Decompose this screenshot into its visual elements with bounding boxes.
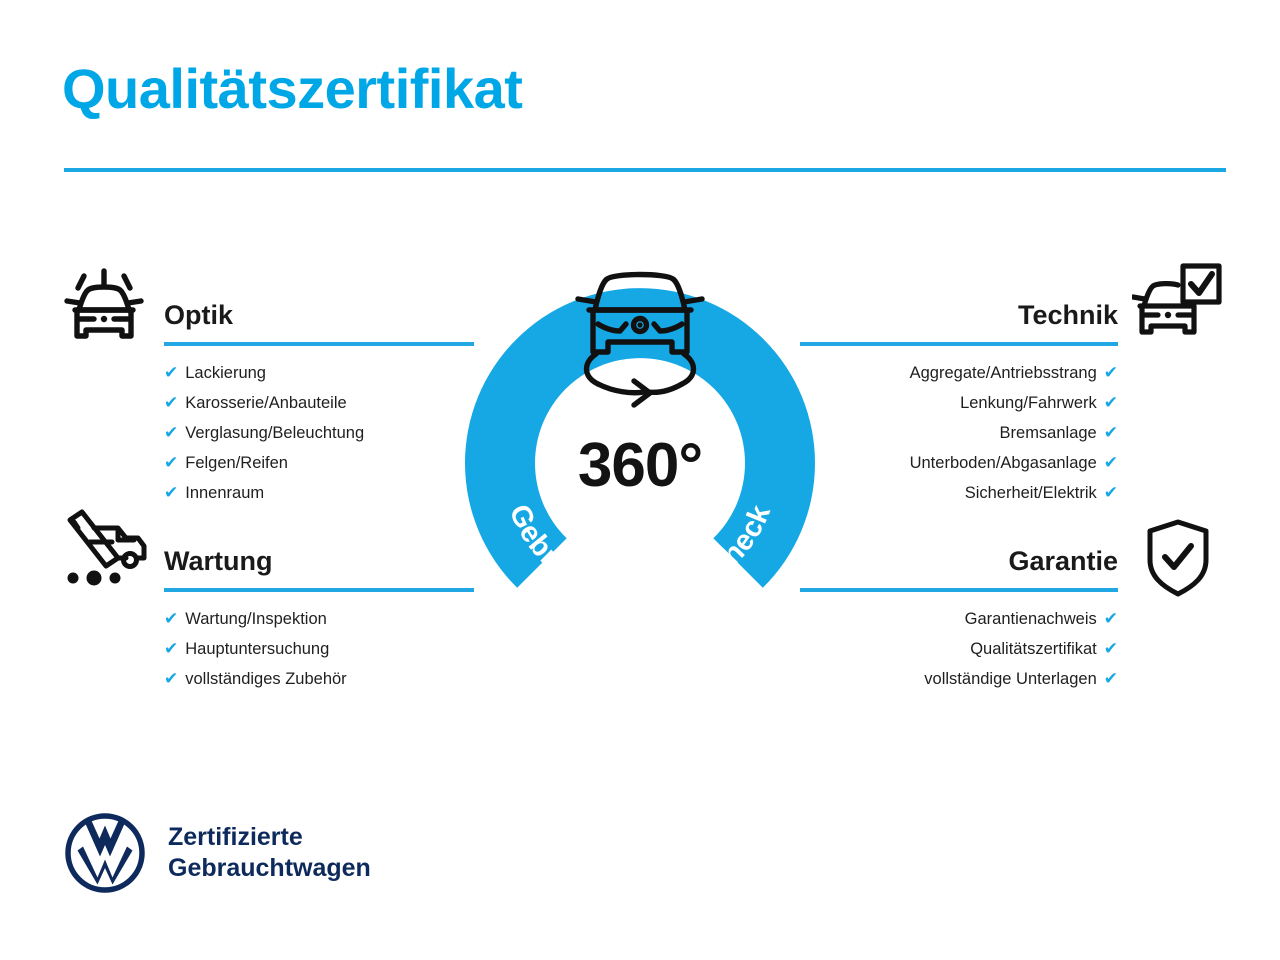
list-item-label: Garantienachweis	[965, 604, 1097, 634]
list-item: ✔vollständiges Zubehör	[164, 664, 474, 694]
vw-certified-footer: Zertifizierte Gebrauchtwagen	[64, 812, 371, 894]
section-optik-divider	[164, 342, 474, 346]
list-item: ✔Karosserie/Anbauteile	[164, 388, 474, 418]
section-wartung-divider	[164, 588, 474, 592]
section-technik-title: Technik	[800, 298, 1118, 332]
service-car-pencil-icon	[60, 508, 152, 595]
list-item: Aggregate/Antriebsstrang✔	[800, 358, 1118, 388]
page-title: Qualitätszertifikat	[62, 58, 522, 120]
list-item-label: Felgen/Reifen	[185, 448, 288, 478]
list-item: Bremsanlage✔	[800, 418, 1118, 448]
list-item-label: Wartung/Inspektion	[185, 604, 327, 634]
check-icon: ✔	[1104, 664, 1118, 694]
check-icon: ✔	[164, 604, 178, 634]
car-front-checkbox-icon	[1132, 262, 1224, 349]
list-item: Sicherheit/Elektrik✔	[800, 478, 1118, 508]
section-technik: Technik Aggregate/Antriebsstrang✔ Lenkun…	[800, 298, 1118, 508]
list-item-label: Verglasung/Beleuchtung	[185, 418, 364, 448]
list-item-label: Lackierung	[185, 358, 266, 388]
quality-certificate-page: Qualitätszertifikat	[0, 0, 1280, 960]
section-optik: Optik ✔Lackierung ✔Karosserie/Anbauteile…	[164, 298, 474, 508]
section-technik-list: Aggregate/Antriebsstrang✔ Lenkung/Fahrwe…	[800, 358, 1118, 508]
check-icon: ✔	[1104, 478, 1118, 508]
car-front-shine-icon	[62, 258, 146, 353]
section-technik-header: Technik	[800, 298, 1118, 346]
check-icon: ✔	[1104, 604, 1118, 634]
list-item-label: Unterboden/Abgasanlage	[910, 448, 1097, 478]
section-garantie-title: Garantie	[800, 544, 1118, 578]
section-optik-title: Optik	[164, 298, 474, 332]
section-technik-divider	[800, 342, 1118, 346]
list-item-label: Hauptuntersuchung	[185, 634, 329, 664]
list-item: ✔Hauptuntersuchung	[164, 634, 474, 664]
section-garantie-header: Garantie	[800, 544, 1118, 592]
shield-check-icon	[1144, 518, 1212, 603]
list-item-label: Innenraum	[185, 478, 264, 508]
check-icon: ✔	[164, 448, 178, 478]
list-item: ✔Verglasung/Beleuchtung	[164, 418, 474, 448]
vw-footer-text: Zertifizierte Gebrauchtwagen	[168, 822, 371, 884]
list-item: Qualitätszertifikat✔	[800, 634, 1118, 664]
section-optik-list: ✔Lackierung ✔Karosserie/Anbauteile ✔Verg…	[164, 358, 474, 508]
list-item: ✔Lackierung	[164, 358, 474, 388]
gebrauchtwagen-check-badge: Gebrauchtwagen-Check 360°	[455, 248, 825, 648]
list-item: Unterboden/Abgasanlage✔	[800, 448, 1118, 478]
list-item-label: Lenkung/Fahrwerk	[960, 388, 1097, 418]
check-icon: ✔	[1104, 418, 1118, 448]
badge-center-label: 360°	[455, 431, 825, 501]
check-icon: ✔	[1104, 358, 1118, 388]
check-icon: ✔	[164, 664, 178, 694]
section-garantie-divider	[800, 588, 1118, 592]
section-optik-header: Optik	[164, 298, 474, 346]
list-item: ✔Wartung/Inspektion	[164, 604, 474, 634]
list-item: vollständige Unterlagen✔	[800, 664, 1118, 694]
vw-footer-line-1: Zertifizierte	[168, 822, 371, 853]
list-item-label: Karosserie/Anbauteile	[185, 388, 346, 418]
section-wartung-header: Wartung	[164, 544, 474, 592]
section-garantie: Garantie Garantienachweis✔ Qualitätszert…	[800, 544, 1118, 694]
list-item-label: Sicherheit/Elektrik	[965, 478, 1097, 508]
list-item-label: vollständige Unterlagen	[924, 664, 1096, 694]
section-wartung-list: ✔Wartung/Inspektion ✔Hauptuntersuchung ✔…	[164, 604, 474, 694]
list-item: ✔Innenraum	[164, 478, 474, 508]
list-item: ✔Felgen/Reifen	[164, 448, 474, 478]
check-icon: ✔	[164, 478, 178, 508]
section-wartung: Wartung ✔Wartung/Inspektion ✔Hauptunters…	[164, 544, 474, 694]
check-icon: ✔	[164, 634, 178, 664]
check-icon: ✔	[164, 388, 178, 418]
list-item-label: Aggregate/Antriebsstrang	[910, 358, 1097, 388]
list-item-label: Qualitätszertifikat	[970, 634, 1097, 664]
check-icon: ✔	[164, 358, 178, 388]
check-icon: ✔	[164, 418, 178, 448]
vw-footer-line-2: Gebrauchtwagen	[168, 853, 371, 884]
list-item: Garantienachweis✔	[800, 604, 1118, 634]
title-divider	[64, 168, 1226, 172]
list-item-label: Bremsanlage	[1000, 418, 1097, 448]
list-item-label: vollständiges Zubehör	[185, 664, 346, 694]
list-item: Lenkung/Fahrwerk✔	[800, 388, 1118, 418]
check-icon: ✔	[1104, 448, 1118, 478]
section-garantie-list: Garantienachweis✔ Qualitätszertifikat✔ v…	[800, 604, 1118, 694]
check-icon: ✔	[1104, 388, 1118, 418]
section-wartung-title: Wartung	[164, 544, 474, 578]
check-icon: ✔	[1104, 634, 1118, 664]
vw-logo	[64, 812, 146, 894]
